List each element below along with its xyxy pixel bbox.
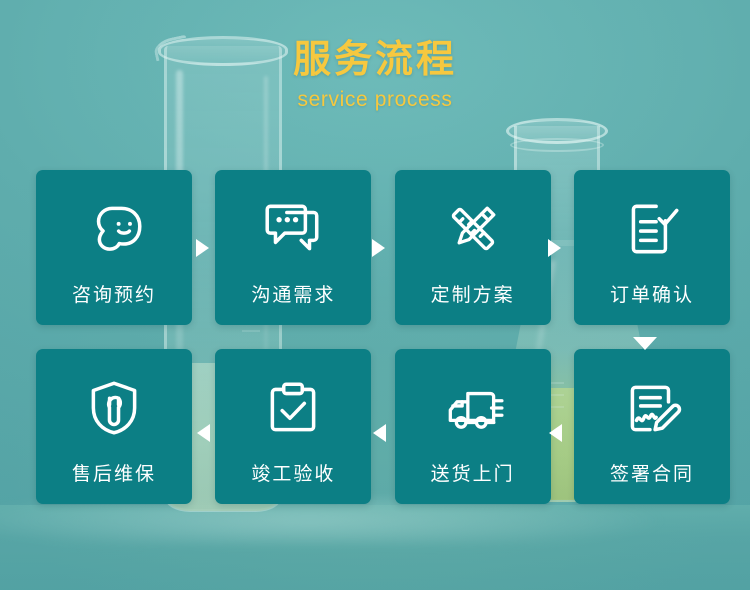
step-card-contract[interactable]: 签署合同 bbox=[574, 349, 730, 504]
step-label: 送货上门 bbox=[431, 459, 515, 486]
page-title: 服务流程 bbox=[0, 40, 750, 82]
chat-bubbles-icon bbox=[260, 196, 326, 262]
contract-pen-icon bbox=[619, 375, 685, 441]
page-subtitle: service process bbox=[0, 88, 750, 112]
service-process-banner: 服务流程 service process 咨询预约 bbox=[0, 0, 750, 590]
step-label: 售后维保 bbox=[72, 459, 156, 486]
arrow-left-icon-2 bbox=[373, 424, 386, 442]
arrow-right-icon-1 bbox=[196, 239, 209, 257]
step-card-delivery[interactable]: 送货上门 bbox=[395, 349, 551, 504]
step-card-consultation[interactable]: 咨询预约 bbox=[36, 170, 192, 325]
clipboard-check-icon bbox=[260, 375, 326, 441]
step-card-acceptance[interactable]: 竣工验收 bbox=[215, 349, 371, 504]
step-card-order-confirm[interactable]: 订单确认 bbox=[574, 170, 730, 325]
delivery-truck-icon bbox=[440, 375, 506, 441]
step-label: 订单确认 bbox=[610, 280, 694, 307]
shield-wrench-icon bbox=[81, 375, 147, 441]
step-label: 定制方案 bbox=[431, 280, 515, 307]
arrow-left-icon-3 bbox=[549, 424, 562, 442]
step-label: 咨询预约 bbox=[72, 280, 156, 307]
step-card-communication[interactable]: 沟通需求 bbox=[215, 170, 371, 325]
banner-header: 服务流程 service process bbox=[0, 40, 750, 112]
step-label: 签署合同 bbox=[610, 459, 694, 486]
arrow-right-icon-2 bbox=[372, 239, 385, 257]
process-steps-grid: 咨询预约 沟通需求 bbox=[36, 170, 730, 504]
arrow-right-icon-3 bbox=[548, 239, 561, 257]
arrow-down-icon bbox=[633, 337, 657, 350]
phone-smile-icon bbox=[81, 196, 147, 262]
step-card-after-sales[interactable]: 售后维保 bbox=[36, 349, 192, 504]
step-label: 竣工验收 bbox=[251, 459, 335, 486]
pencil-ruler-icon bbox=[440, 196, 506, 262]
step-label: 沟通需求 bbox=[251, 280, 335, 307]
arrow-left-icon-1 bbox=[197, 424, 210, 442]
step-card-custom-plan[interactable]: 定制方案 bbox=[395, 170, 551, 325]
document-check-icon bbox=[619, 196, 685, 262]
